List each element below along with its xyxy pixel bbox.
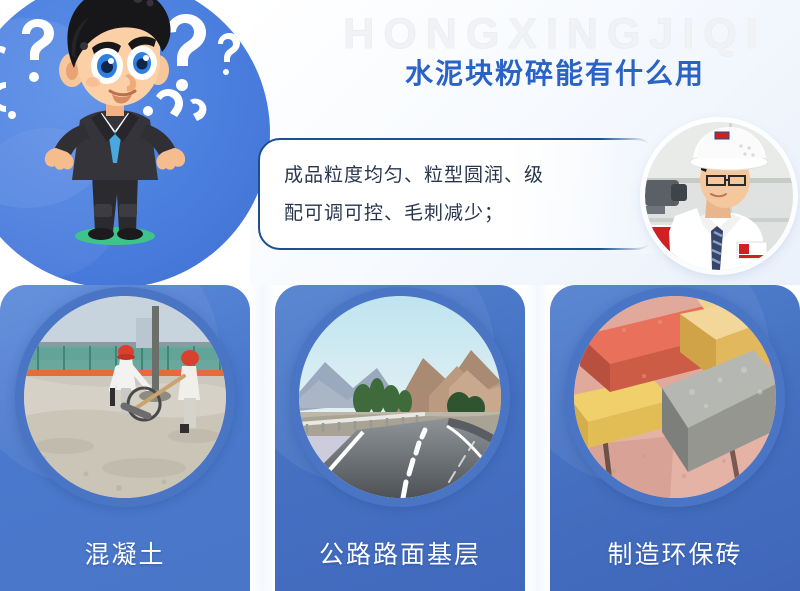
panel-image	[299, 296, 501, 498]
poster-canvas: HONGXINGJIQI 水泥块粉碎能有什么用	[0, 0, 800, 591]
feature-line-2: 配可调可控、毛刺减少；	[284, 195, 634, 233]
highway-road-photo-icon	[299, 296, 501, 498]
panel-highway[interactable]: 公路路面基层	[275, 285, 525, 591]
confused-businessman-icon	[0, 0, 270, 285]
header-section: HONGXINGJIQI 水泥块粉碎能有什么用	[0, 0, 800, 285]
panel-image-ring	[290, 287, 510, 507]
engineer-photo	[645, 122, 793, 270]
mascot-circle	[0, 0, 270, 285]
panel-eco-bricks[interactable]: 制造环保砖	[550, 285, 800, 591]
feature-callout-box: 成品粒度均匀、粒型圆润、级 配可调可控、毛刺减少；	[258, 138, 658, 250]
panel-concrete[interactable]: 混凝土	[0, 285, 250, 591]
panel-label-highway: 公路路面基层	[275, 535, 525, 571]
concrete-work-photo-icon	[24, 296, 226, 498]
page-title: 水泥块粉碎能有什么用	[330, 54, 780, 94]
panel-gap-2	[525, 285, 550, 591]
panel-image	[574, 296, 776, 498]
panel-image	[24, 296, 226, 498]
panel-gap-1	[250, 285, 275, 591]
panel-image-ring	[565, 287, 785, 507]
eco-paving-bricks-photo-icon	[574, 296, 776, 498]
feature-line-1: 成品粒度均匀、粒型圆润、级	[284, 157, 634, 195]
engineer-portrait-illustration	[645, 122, 793, 270]
panel-label-concrete: 混凝土	[0, 535, 250, 571]
panel-label-eco-bricks: 制造环保砖	[550, 535, 800, 571]
application-panels: 混凝土	[0, 285, 800, 591]
panel-image-ring	[15, 287, 235, 507]
